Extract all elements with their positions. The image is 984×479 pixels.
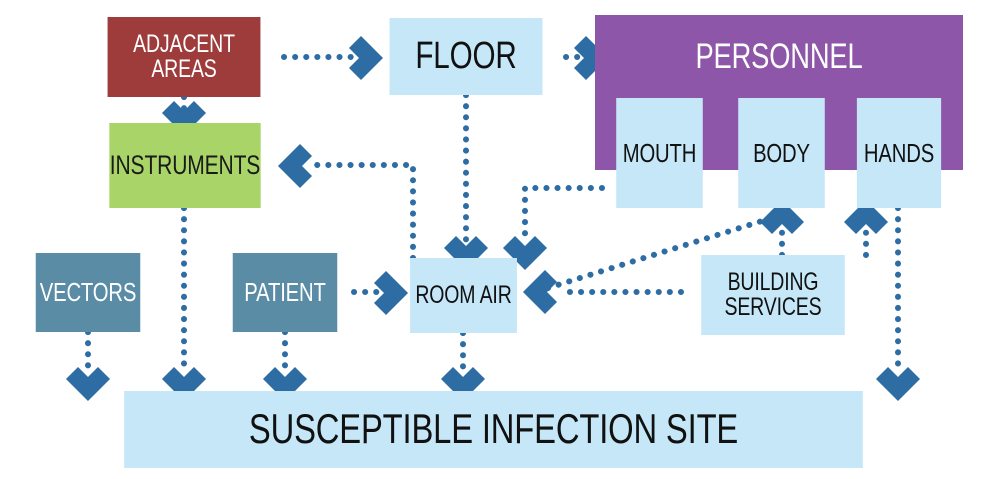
node-vectors-label: VECTORS <box>36 279 141 306</box>
node-vectors[interactable]: VECTORS <box>36 253 141 332</box>
node-body-label: BODY <box>738 140 825 167</box>
node-personnel-label: PERSONNEL <box>635 39 922 75</box>
node-floor-label: FLOOR <box>390 37 543 76</box>
node-susceptible-infection-site-label: SUSCEPTIBLE INFECTION SITE <box>124 408 863 451</box>
node-adjacent-areas[interactable]: ADJACENT AREAS <box>108 17 261 97</box>
node-mouth-label: MOUTH <box>616 140 703 167</box>
node-patient-label: PATIENT <box>233 279 338 306</box>
node-instruments-label: INSTRUMENTS <box>109 152 260 180</box>
node-body[interactable]: BODY <box>738 98 825 208</box>
node-room-air[interactable]: ROOM AIR <box>410 258 517 333</box>
node-patient[interactable]: PATIENT <box>233 253 338 332</box>
node-floor[interactable]: FLOOR <box>390 18 543 95</box>
node-instruments[interactable]: INSTRUMENTS <box>109 123 260 208</box>
node-susceptible-infection-site[interactable]: SUSCEPTIBLE INFECTION SITE <box>124 391 863 468</box>
node-room-air-label: ROOM AIR <box>410 283 517 309</box>
node-building-services-label: BUILDING SERVICES <box>701 270 845 321</box>
node-hands[interactable]: HANDS <box>857 98 941 208</box>
node-adjacent-areas-label: ADJACENT AREAS <box>108 32 261 83</box>
node-mouth[interactable]: MOUTH <box>616 98 703 208</box>
node-hands-label: HANDS <box>857 140 941 167</box>
node-building-services[interactable]: BUILDING SERVICES <box>701 255 845 335</box>
node-personnel-title: PERSONNEL <box>635 15 922 98</box>
infection-source-diagram: ADJACENT AREAS INSTRUMENTS FLOOR PERSONN… <box>0 0 984 479</box>
